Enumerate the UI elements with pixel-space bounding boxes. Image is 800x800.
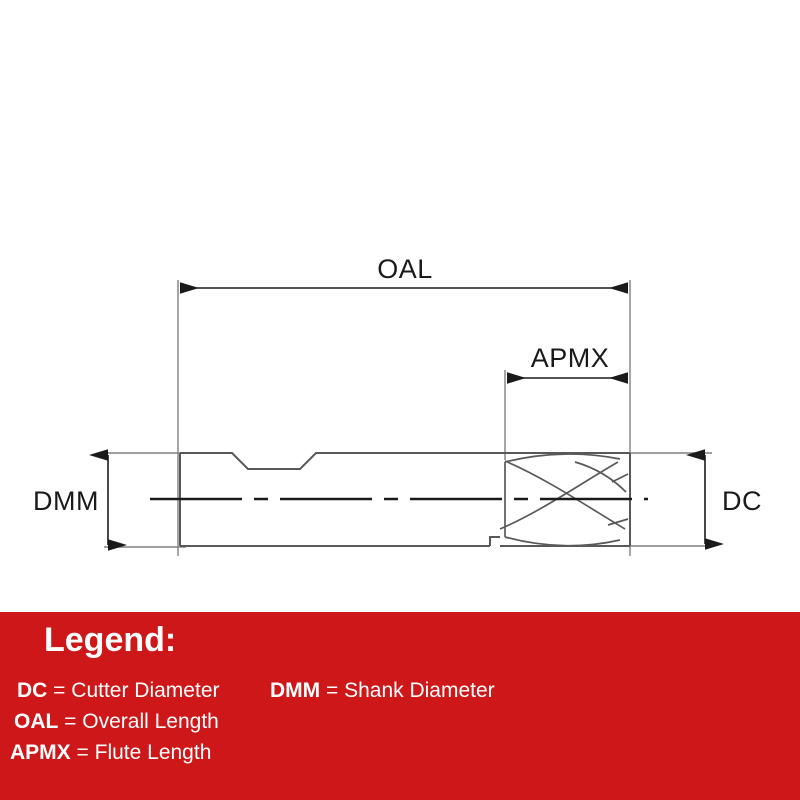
legend-entry-apmx: APMX = Flute Length [10, 740, 211, 765]
dimension-label-oal: OAL [377, 254, 433, 284]
dimension-label-dmm: DMM [33, 486, 99, 516]
legend-code-apmx: APMX [10, 741, 71, 764]
flute-helix-edge-2 [505, 454, 620, 462]
legend-code-oal: OAL [14, 710, 58, 733]
flute-land-lower-bow [505, 537, 620, 546]
legend-description-apmx: Flute Length [95, 741, 212, 764]
legend-description-dmm: Shank Diameter [344, 679, 495, 702]
legend-separator-dmm: = [320, 679, 344, 702]
legend-entry-dmm: DMM = Shank Diameter [270, 678, 495, 703]
legend-separator-oal: = [58, 710, 82, 733]
dimension-label-apmx: APMX [531, 343, 610, 373]
legend-code-dmm: DMM [270, 679, 320, 702]
legend-band: Legend: DC = Cutter Diameter DMM = Shank… [0, 612, 800, 800]
end-mill-drawing-svg: OAL APMX DMM DC [0, 0, 800, 612]
shank-top-profile [180, 453, 490, 469]
legend-separator-apmx: = [71, 741, 95, 764]
legend-description-dc: Cutter Diameter [71, 679, 219, 702]
legend-entry-dc: DC = Cutter Diameter [17, 678, 220, 703]
dimension-label-dc: DC [722, 486, 762, 516]
legend-separator-dc: = [47, 679, 71, 702]
legend-entry-oal: OAL = Overall Length [14, 709, 219, 734]
legend-title: Legend: [44, 622, 176, 659]
page-root: OAL APMX DMM DC [0, 0, 800, 800]
legend-code-dc: DC [17, 679, 47, 702]
cutter-neck-step [490, 537, 500, 546]
legend-description-oal: Overall Length [82, 710, 219, 733]
dimension-oal: OAL [180, 254, 628, 288]
technical-drawing-area: OAL APMX DMM DC [0, 0, 800, 612]
dimension-apmx: APMX [507, 343, 628, 378]
flute-gash-upper [575, 462, 626, 492]
extension-lines [178, 280, 630, 556]
flute-relief-notch-upper [612, 474, 628, 482]
